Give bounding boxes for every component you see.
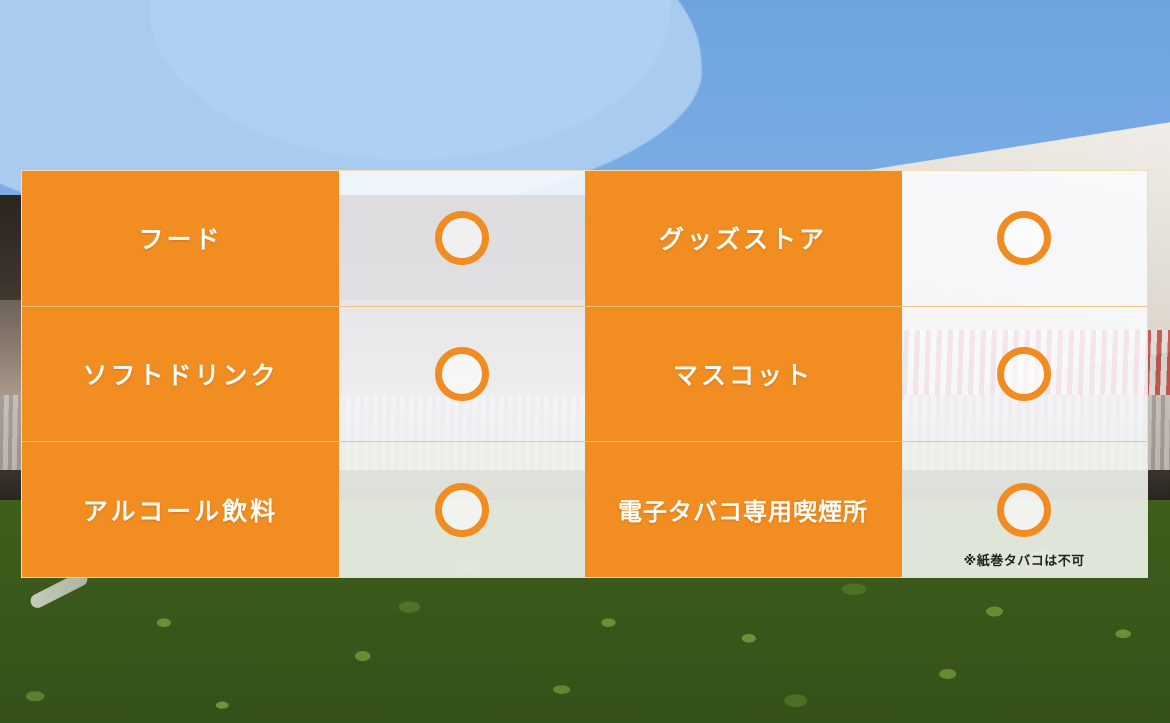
service-mark-cell-ecig-smoking-area: ※紙巻タバコは不可 <box>902 442 1148 577</box>
service-mark-cell-soft-drink <box>339 307 585 442</box>
service-availability-table: フード グッズストア ソフトドリンク マスコット <box>21 170 1148 578</box>
service-mark-cell-mascot <box>902 307 1148 442</box>
circle-maru-icon <box>997 211 1051 265</box>
service-mark-cell-alcohol <box>339 442 585 577</box>
service-mark-cell-goods-store <box>902 171 1148 306</box>
circle-maru-icon <box>997 483 1051 537</box>
service-label-cell-goods-store: グッズストア <box>585 171 902 306</box>
service-label-cell-ecig-smoking-area: 電子タバコ専用喫煙所 <box>585 442 902 577</box>
circle-maru-icon <box>435 483 489 537</box>
circle-maru-icon <box>435 347 489 401</box>
service-label-text: アルコール飲料 <box>83 492 278 528</box>
service-label-text: マスコット <box>673 356 813 392</box>
table-row: ソフトドリンク マスコット <box>22 307 1147 443</box>
table-row: アルコール飲料 電子タバコ専用喫煙所 ※紙巻タバコは不可 <box>22 442 1147 577</box>
service-label-text: ソフトドリンク <box>82 356 278 392</box>
service-mark-cell-food <box>339 171 585 306</box>
circle-maru-icon <box>997 347 1051 401</box>
service-label-text: 電子タバコ専用喫煙所 <box>618 492 868 527</box>
service-label-cell-soft-drink: ソフトドリンク <box>22 307 339 442</box>
service-label-cell-alcohol: アルコール飲料 <box>22 442 339 577</box>
service-label-cell-food: フード <box>22 171 339 306</box>
service-label-cell-mascot: マスコット <box>585 307 902 442</box>
screenshot-stage: フード グッズストア ソフトドリンク マスコット <box>0 0 1170 723</box>
service-label-text: フード <box>138 220 222 256</box>
footnote-paper-cigarettes: ※紙巻タバコは不可 <box>902 550 1148 569</box>
circle-maru-icon <box>435 211 489 265</box>
service-label-text: グッズストア <box>659 220 827 256</box>
table-row: フード グッズストア <box>22 171 1147 307</box>
